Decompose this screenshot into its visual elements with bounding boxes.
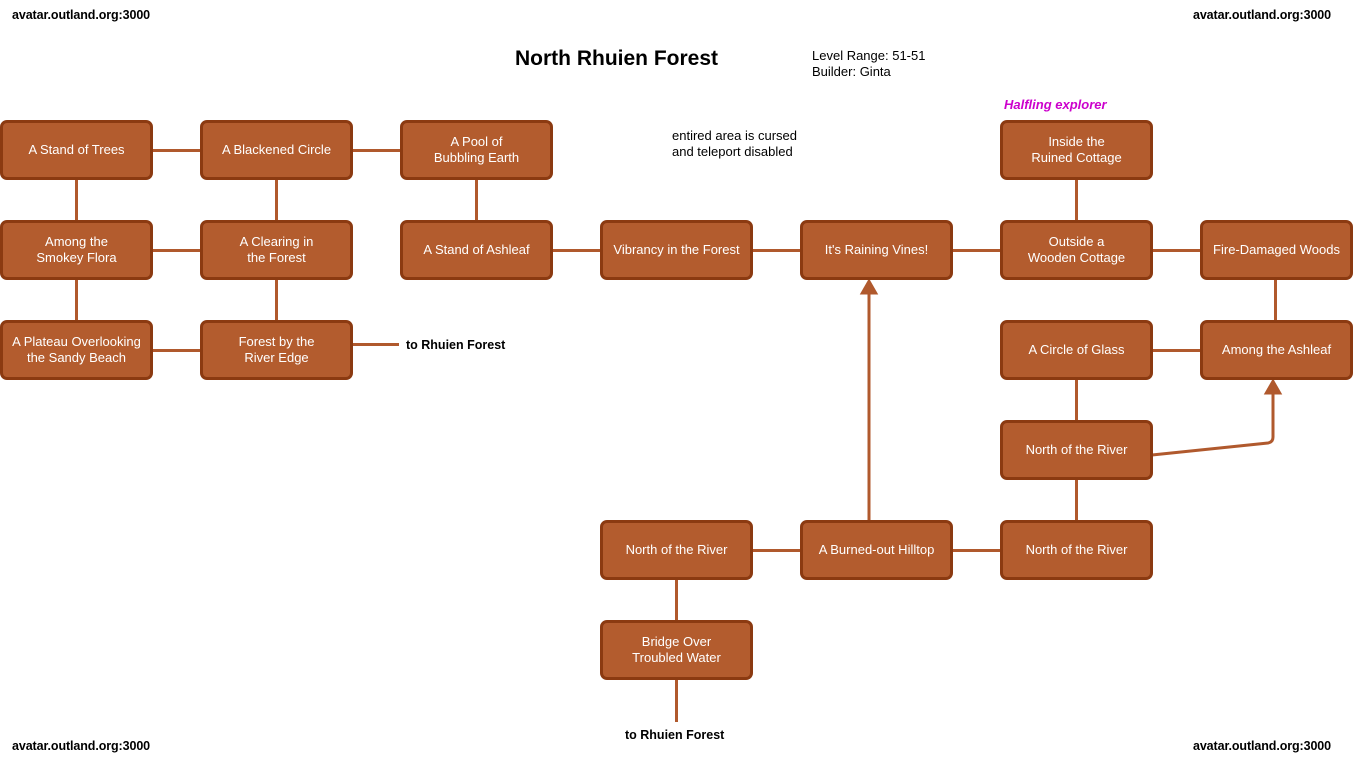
link-vibrancy-vines	[752, 249, 801, 252]
room-forest-by-the-river-edge[interactable]: Forest by theRiver Edge	[200, 320, 353, 380]
note-cursed-line1: entired area is cursed	[672, 128, 797, 144]
room-label: A Clearing inthe Forest	[240, 234, 314, 266]
room-label: Outside aWooden Cottage	[1028, 234, 1125, 266]
builder-name: Builder: Ginta	[812, 64, 925, 80]
room-label: Among theSmokey Flora	[36, 234, 116, 266]
level-range: Level Range: 51-51	[812, 48, 925, 64]
exit-label-left: to Rhuien Forest	[406, 338, 505, 352]
room-label: A Pool ofBubbling Earth	[434, 134, 519, 166]
room-north-of-the-river-mid[interactable]: North of the River	[1000, 420, 1153, 480]
room-label: Bridge OverTroubled Water	[632, 634, 721, 666]
link-ashleaf-vibrancy	[552, 249, 601, 252]
room-label: A Burned-out Hilltop	[819, 542, 935, 558]
room-label: A Stand of Ashleaf	[423, 242, 529, 258]
note-area-cursed: entired area is cursed and teleport disa…	[672, 128, 797, 160]
room-a-circle-of-glass[interactable]: A Circle of Glass	[1000, 320, 1153, 380]
room-bridge-over-troubled-water[interactable]: Bridge OverTroubled Water	[600, 620, 753, 680]
link-clearing-forest-river	[275, 280, 278, 320]
note-cursed-line2: and teleport disabled	[672, 144, 797, 160]
mob-label-halfling-explorer: Halfling explorer	[1004, 97, 1107, 112]
watermark-bottom-right: avatar.outland.org:3000	[1193, 739, 1331, 753]
room-inside-the-ruined-cottage[interactable]: Inside theRuined Cottage	[1000, 120, 1153, 180]
link-blackened-pool	[352, 149, 401, 152]
room-a-stand-of-ashleaf[interactable]: A Stand of Ashleaf	[400, 220, 553, 280]
link-blackened-clearing	[275, 180, 278, 220]
room-north-of-the-river-east[interactable]: North of the River	[1000, 520, 1153, 580]
room-label: North of the River	[626, 542, 728, 558]
exit-label-bottom: to Rhuien Forest	[625, 728, 724, 742]
link-northriver-mid-east	[1075, 480, 1078, 520]
map-canvas: avatar.outland.org:3000 avatar.outland.o…	[0, 0, 1353, 761]
watermark-bottom-left: avatar.outland.org:3000	[12, 739, 150, 753]
room-label: Among the Ashleaf	[1222, 342, 1331, 358]
room-label: A Stand of Trees	[28, 142, 124, 158]
link-forest-river-exit	[352, 343, 399, 346]
link-smokey-clearing	[153, 249, 201, 252]
room-its-raining-vines[interactable]: It's Raining Vines!	[800, 220, 953, 280]
link-glass-ashleaf	[1152, 349, 1201, 352]
link-plateau-forest-river	[153, 349, 201, 352]
link-bridge-exit	[675, 680, 678, 722]
room-label: Vibrancy in the Forest	[613, 242, 739, 258]
room-label: It's Raining Vines!	[825, 242, 928, 258]
room-blackened-circle[interactable]: A Blackened Circle	[200, 120, 353, 180]
room-label: Inside theRuined Cottage	[1031, 134, 1121, 166]
link-hilltop-northriver-east	[952, 549, 1001, 552]
link-fire-woods-ashleaf	[1274, 280, 1277, 320]
link-pool-ashleaf	[475, 180, 478, 220]
link-northriver-west-bridge	[675, 580, 678, 620]
area-metadata: Level Range: 51-51 Builder: Ginta	[812, 48, 925, 80]
room-among-the-smokey-flora[interactable]: Among theSmokey Flora	[0, 220, 153, 280]
link-smokey-plateau	[75, 280, 78, 320]
link-outside-cottage-fire-woods	[1152, 249, 1201, 252]
room-vibrancy-in-the-forest[interactable]: Vibrancy in the Forest	[600, 220, 753, 280]
link-vines-outside-cottage	[952, 249, 1001, 252]
room-label: A Circle of Glass	[1028, 342, 1124, 358]
link-northriver-west-hilltop	[752, 549, 801, 552]
room-north-of-the-river-west[interactable]: North of the River	[600, 520, 753, 580]
room-a-plateau-overlooking-the-sandy-beach[interactable]: A Plateau Overlookingthe Sandy Beach	[0, 320, 153, 380]
room-outside-a-wooden-cottage[interactable]: Outside aWooden Cottage	[1000, 220, 1153, 280]
room-fire-damaged-woods[interactable]: Fire-Damaged Woods	[1200, 220, 1353, 280]
room-label: A Blackened Circle	[222, 142, 331, 158]
room-label: A Plateau Overlookingthe Sandy Beach	[12, 334, 141, 366]
room-a-burned-out-hilltop[interactable]: A Burned-out Hilltop	[800, 520, 953, 580]
room-label: North of the River	[1026, 542, 1128, 558]
room-pool-of-bubbling-earth[interactable]: A Pool ofBubbling Earth	[400, 120, 553, 180]
room-stand-of-trees[interactable]: A Stand of Trees	[0, 120, 153, 180]
link-glass-northriver-mid	[1075, 380, 1078, 420]
room-a-clearing-in-the-forest[interactable]: A Clearing inthe Forest	[200, 220, 353, 280]
watermark-top-left: avatar.outland.org:3000	[12, 8, 150, 22]
room-label: North of the River	[1026, 442, 1128, 458]
link-inside-outside-cottage	[1075, 180, 1078, 220]
arrow-northriver-to-among-ashleaf	[1152, 388, 1273, 455]
page-title: North Rhuien Forest	[515, 47, 718, 71]
link-trees-blackened	[153, 149, 201, 152]
room-among-the-ashleaf[interactable]: Among the Ashleaf	[1200, 320, 1353, 380]
room-label: Forest by theRiver Edge	[239, 334, 315, 366]
room-label: Fire-Damaged Woods	[1213, 242, 1340, 258]
link-trees-smokey	[75, 180, 78, 220]
watermark-top-right: avatar.outland.org:3000	[1193, 8, 1331, 22]
